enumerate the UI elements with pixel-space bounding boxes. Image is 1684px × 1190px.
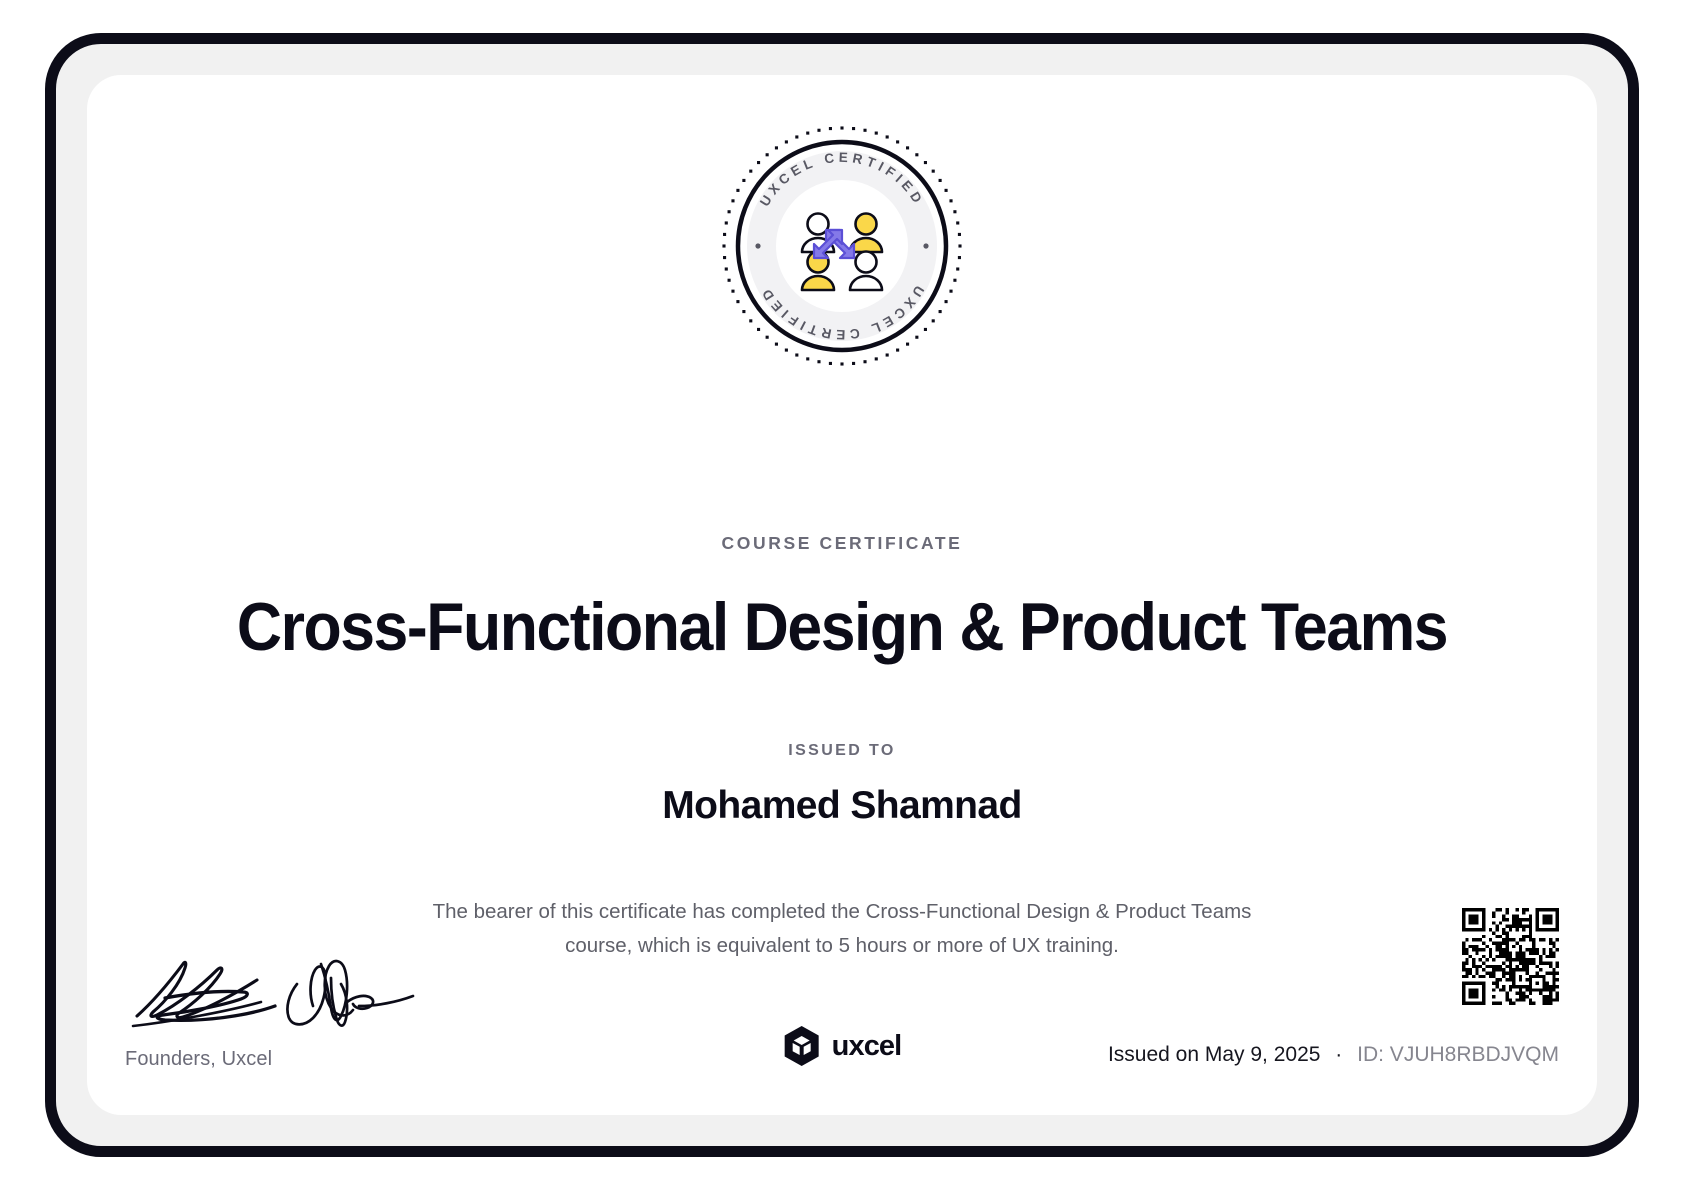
signature-caption: Founders, Uxcel — [125, 1048, 455, 1071]
issued-on-date: Issued on May 9, 2025 — [1108, 1043, 1320, 1066]
seal-text-separator-left — [755, 243, 760, 248]
uxcel-certified-seal: UXCEL CERTIFIED UXCEL CERTIFIED — [714, 118, 970, 374]
meta-separator: · — [1326, 1043, 1351, 1066]
certificate-meta: Issued on May 9, 2025 · ID: VJUH8RBDJVQM — [1108, 1043, 1559, 1067]
qr-code-icon — [1462, 908, 1559, 1005]
verification-qr-code[interactable] — [1462, 908, 1559, 1005]
signature-one — [133, 962, 275, 1026]
certificate-title: Cross-Functional Design & Product Teams — [147, 591, 1536, 664]
certificate-id: ID: VJUH8RBDJVQM — [1357, 1043, 1559, 1066]
seal-text-separator-right — [923, 243, 928, 248]
signature-block: Founders, Uxcel — [125, 950, 455, 1071]
recipient-name: Mohamed Shamnad — [87, 784, 1597, 828]
uxcel-wordmark: uxcel — [832, 1030, 902, 1063]
certificate-footer: Founders, Uxcel uxcel — [87, 911, 1597, 1071]
seal-graphic: UXCEL CERTIFIED UXCEL CERTIFIED — [714, 118, 970, 374]
issued-to-label: ISSUED TO — [87, 742, 1597, 760]
uxcel-hexagon-cube-logo-icon — [783, 1025, 821, 1067]
handwritten-signatures-icon — [125, 950, 425, 1036]
certificate-card: UXCEL CERTIFIED UXCEL CERTIFIED — [87, 75, 1597, 1115]
signature-two — [287, 961, 413, 1026]
uxcel-brand: uxcel — [783, 1025, 902, 1067]
course-certificate-eyebrow: COURSE CERTIFICATE — [87, 533, 1597, 554]
certificate-frame: UXCEL CERTIFIED UXCEL CERTIFIED — [45, 33, 1639, 1157]
